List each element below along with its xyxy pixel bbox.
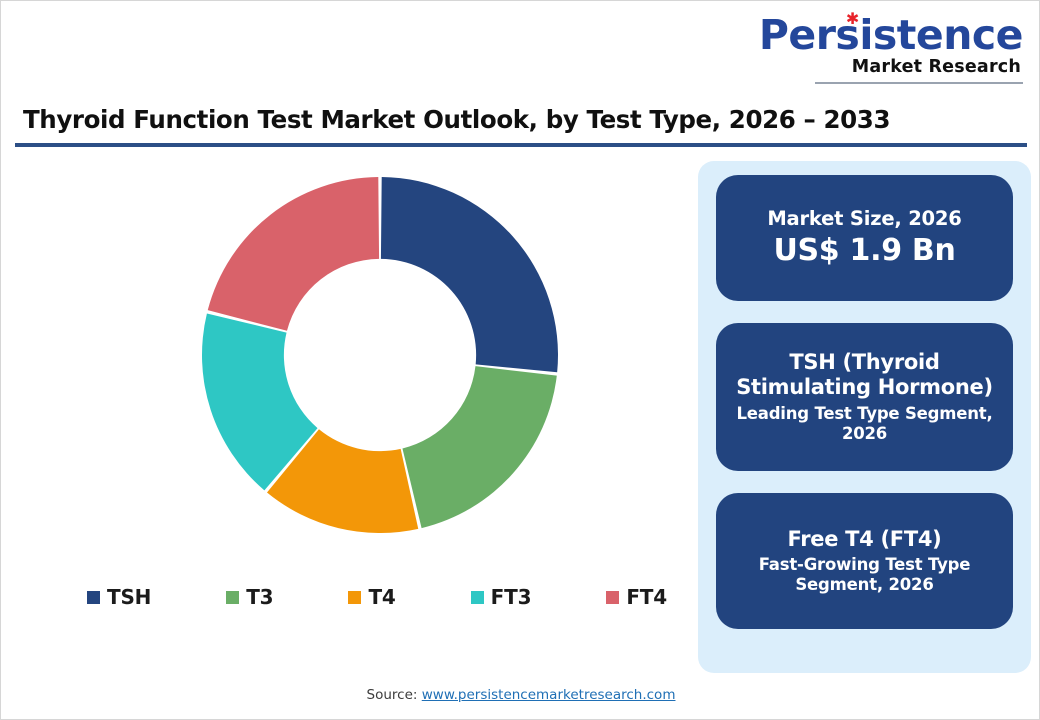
chart-legend: TSHT3T4FT3FT4 bbox=[87, 585, 667, 609]
legend-item-ft3[interactable]: FT3 bbox=[471, 585, 532, 609]
donut-chart bbox=[190, 165, 570, 545]
legend-label: FT4 bbox=[626, 585, 667, 609]
leading-segment-name: TSH (Thyroid Stimulating Hormone) bbox=[732, 350, 997, 401]
legend-swatch-icon bbox=[226, 591, 239, 604]
highlight-card-market-size: Market Size, 2026 US$ 1.9 Bn bbox=[716, 175, 1013, 301]
fastest-segment-name: Free T4 (FT4) bbox=[788, 527, 942, 553]
legend-swatch-icon bbox=[606, 591, 619, 604]
donut-slice-ft4 bbox=[208, 177, 379, 331]
legend-item-t4[interactable]: T4 bbox=[348, 585, 395, 609]
fastest-segment-caption: Fast-Growing Test Type Segment, 2026 bbox=[732, 555, 997, 595]
source-prefix: Source: bbox=[367, 687, 422, 703]
market-size-label: Market Size, 2026 bbox=[767, 207, 961, 230]
legend-swatch-icon bbox=[87, 591, 100, 604]
asterisk-icon: ✱ bbox=[846, 13, 857, 24]
logo-underline bbox=[815, 82, 1023, 84]
title-divider bbox=[15, 143, 1027, 147]
source-link[interactable]: www.persistencemarketresearch.com bbox=[422, 687, 676, 703]
donut-slice-tsh bbox=[381, 177, 558, 372]
legend-item-ft4[interactable]: FT4 bbox=[606, 585, 667, 609]
legend-label: T4 bbox=[368, 585, 395, 609]
legend-swatch-icon bbox=[348, 591, 361, 604]
logo-wordmark-text: Persistence bbox=[759, 11, 1023, 59]
logo-tagline: Market Research bbox=[759, 59, 1021, 77]
highlight-card-fastest-segment: Free T4 (FT4) Fast-Growing Test Type Seg… bbox=[716, 493, 1013, 629]
legend-item-t3[interactable]: T3 bbox=[226, 585, 273, 609]
infographic-page: Persistence ✱ Market Research Thyroid Fu… bbox=[0, 0, 1040, 720]
leading-segment-caption: Leading Test Type Segment, 2026 bbox=[732, 404, 997, 444]
legend-item-tsh[interactable]: TSH bbox=[87, 585, 151, 609]
company-logo: Persistence ✱ Market Research bbox=[759, 15, 1023, 84]
page-title: Thyroid Function Test Market Outlook, by… bbox=[23, 105, 903, 134]
source-footer: Source: www.persistencemarketresearch.co… bbox=[1, 687, 1040, 703]
market-size-value: US$ 1.9 Bn bbox=[773, 233, 955, 269]
chart-area: TSHT3T4FT3FT4 bbox=[15, 153, 683, 673]
highlight-card-leading-segment: TSH (Thyroid Stimulating Hormone) Leadin… bbox=[716, 323, 1013, 471]
legend-label: TSH bbox=[107, 585, 151, 609]
logo-wordmark: Persistence ✱ bbox=[759, 15, 1023, 56]
donut-chart-svg bbox=[190, 165, 570, 545]
legend-swatch-icon bbox=[471, 591, 484, 604]
legend-label: FT3 bbox=[491, 585, 532, 609]
donut-slice-t3 bbox=[402, 366, 556, 528]
legend-label: T3 bbox=[246, 585, 273, 609]
highlights-panel: Market Size, 2026 US$ 1.9 Bn TSH (Thyroi… bbox=[698, 161, 1031, 673]
donut-slice-group bbox=[202, 177, 558, 533]
